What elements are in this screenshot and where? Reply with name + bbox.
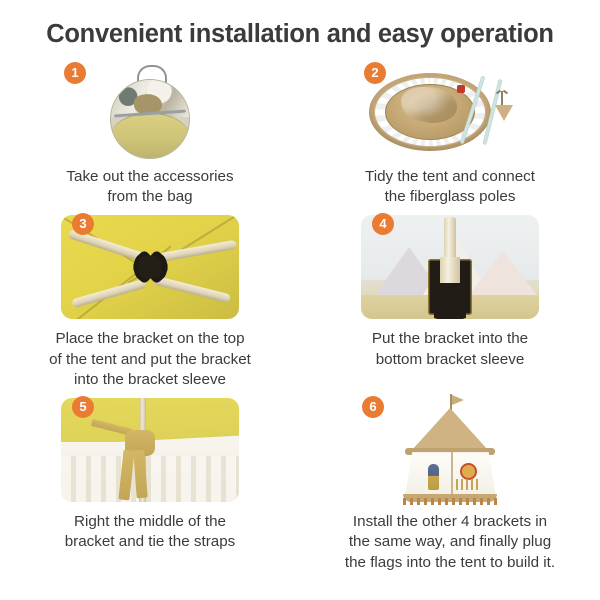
step-3-caption-line-3: into the bracket sleeve (25, 370, 275, 390)
knight-print (428, 464, 439, 490)
step-5-caption-line-1: Right the middle of the (20, 512, 280, 532)
step-3-figure: 3 (50, 207, 250, 319)
step-card-5: 5 Right the middle of the bracket and ti… (0, 390, 300, 573)
step-badge-2: 2 (364, 62, 386, 84)
step-3-caption-line-2: of the tent and put the bracket (25, 350, 275, 370)
step-1-caption-line-2: from the bag (20, 187, 280, 207)
bracket-center (139, 256, 161, 278)
step-1-caption: Take out the accessories from the bag (20, 167, 280, 207)
step-4-caption-line-1: Put the bracket into the (320, 329, 580, 349)
gate-print (456, 479, 478, 490)
fabric-ruffle (61, 456, 239, 502)
instruction-infographic: Convenient installation and easy operati… (0, 0, 600, 600)
step-2-caption: Tidy the tent and connect the fiberglass… (320, 167, 580, 207)
step-4-caption: Put the bracket into the bottom bracket … (320, 329, 580, 369)
lion-crest-print (460, 463, 477, 480)
step-card-2: 2 Tidy the tent and connect the fibergla… (300, 62, 600, 207)
page-title: Convenient installation and easy operati… (0, 20, 600, 49)
bag-front-panel (110, 113, 190, 158)
step-2-caption-line-1: Tidy the tent and connect (320, 167, 580, 187)
step-card-1: 1 Take out the accessories from the bag (0, 62, 300, 207)
step-5-caption-line-2: bracket and tie the straps (20, 532, 280, 552)
step-6-figure: 6 (350, 390, 550, 502)
step-3-caption: Place the bracket on the top of the tent… (25, 329, 275, 390)
step-badge-6: 6 (362, 396, 384, 418)
tent-roof (412, 408, 488, 450)
finished-tent-illustration (391, 394, 509, 502)
step-1-figure: 1 (50, 62, 250, 157)
step-badge-5: 5 (72, 396, 94, 418)
step-1-caption-line-1: Take out the accessories (20, 167, 280, 187)
step-6-caption-line-2: the same way, and finally plug (314, 532, 586, 552)
carry-bag-illustration (104, 65, 196, 157)
pole-peg-icon (501, 91, 503, 106)
step-5-figure: 5 (50, 390, 250, 502)
bag-body (110, 79, 190, 159)
step-6-caption: Install the other 4 brackets in the same… (314, 512, 586, 573)
step-6-caption-line-3: the flags into the tent to build it. (314, 553, 586, 573)
step-2-figure: 2 (350, 62, 550, 157)
step-5-caption: Right the middle of the bracket and tie … (20, 512, 280, 552)
tent-red-tag (457, 85, 465, 93)
step-4-caption-line-2: bottom bracket sleeve (320, 350, 580, 370)
flat-tent-illustration (365, 65, 535, 157)
tent-body (405, 452, 496, 496)
tent-scallop-trim (403, 498, 497, 505)
tent-fabric-triangle (469, 251, 537, 295)
step-card-3: 3 Place the bracket on the top (0, 207, 300, 390)
step-badge-1: 1 (64, 62, 86, 84)
step-3-caption-line-1: Place the bracket on the top (25, 329, 275, 349)
step-card-6: 6 Install the other 4 brackets in (300, 390, 600, 573)
step-4-figure: 4 (350, 207, 550, 319)
pole-cone-tip (495, 105, 513, 121)
bottom-bracket-sleeve (428, 259, 472, 315)
step-card-4: 4 Put the bracket into the bottom bracke… (300, 207, 600, 390)
step-2-caption-line-2: the fiberglass poles (320, 187, 580, 207)
step-6-caption-line-1: Install the other 4 brackets in (314, 512, 586, 532)
steps-grid: 1 Take out the accessories from the bag … (0, 62, 600, 573)
